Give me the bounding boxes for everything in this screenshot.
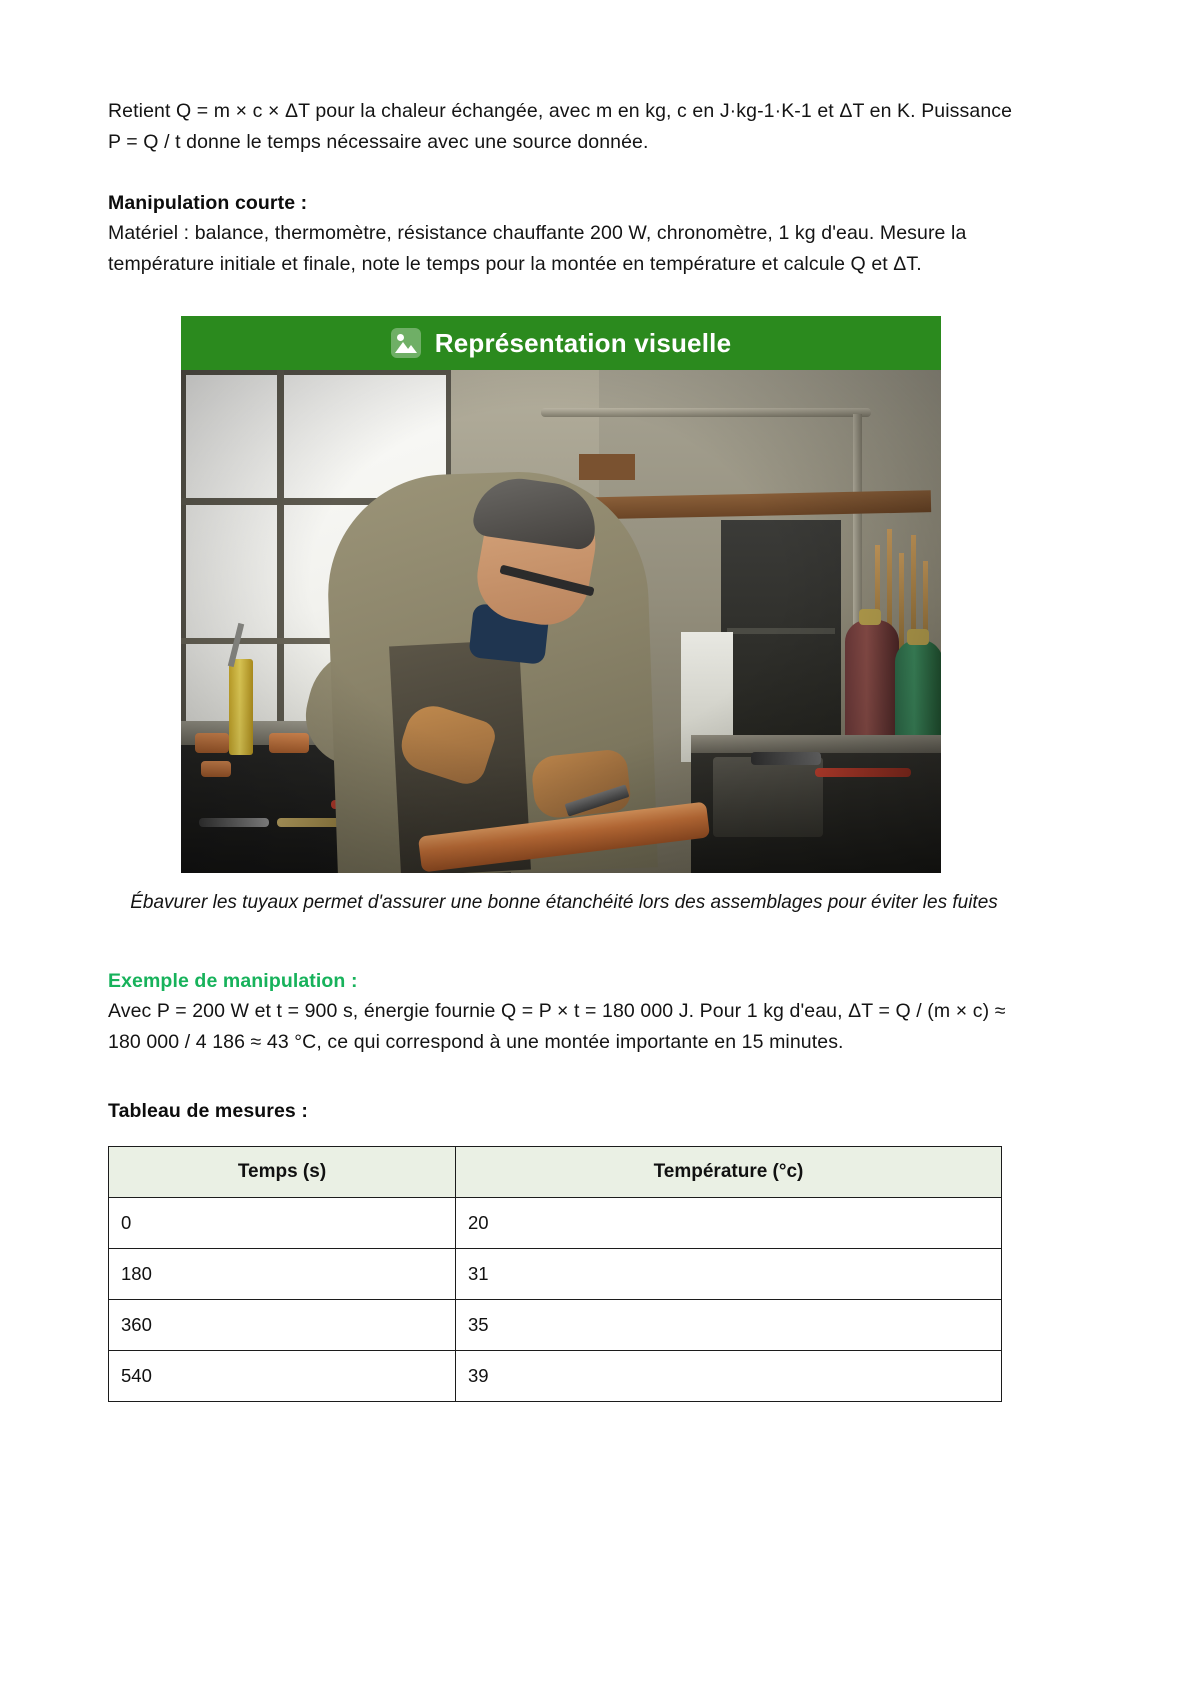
- visual-representation-block: Représentation visuelle: [181, 316, 941, 873]
- image-icon-mountain-small: [405, 345, 417, 353]
- cell-temps: 360: [109, 1300, 456, 1351]
- photo-caption: Ébavurer les tuyaux permet d'assurer une…: [108, 887, 1020, 918]
- document-page: Retient Q = m × c × ΔT pour la chaleur é…: [0, 0, 1200, 1698]
- column-header-temperature: Température (°c): [456, 1147, 1002, 1198]
- document-content: Retient Q = m × c × ΔT pour la chaleur é…: [108, 96, 1020, 1402]
- visual-banner: Représentation visuelle: [181, 316, 941, 370]
- cell-temperature: 31: [456, 1249, 1002, 1300]
- spacer-after-caption: [108, 918, 1020, 966]
- cell-temperature: 20: [456, 1198, 1002, 1249]
- visual-banner-title: Représentation visuelle: [435, 328, 731, 359]
- table-row: 360 35: [109, 1300, 1002, 1351]
- cell-temperature: 39: [456, 1351, 1002, 1402]
- spacer-before-table: [108, 1058, 1020, 1096]
- table-header-row: Temps (s) Température (°c): [109, 1147, 1002, 1198]
- image-icon: [391, 328, 421, 358]
- measurements-table: Temps (s) Température (°c) 0 20 180 31 3…: [108, 1146, 1002, 1402]
- table-row: 540 39: [109, 1351, 1002, 1402]
- example-heading: Exemple de manipulation :: [108, 966, 1020, 996]
- intro-paragraph: Retient Q = m × c × ΔT pour la chaleur é…: [108, 96, 1020, 158]
- table-row: 0 20: [109, 1198, 1002, 1249]
- cell-temps: 180: [109, 1249, 456, 1300]
- workshop-photo: [181, 370, 941, 873]
- photo-vignette: [181, 370, 941, 873]
- cell-temps: 540: [109, 1351, 456, 1402]
- column-header-temps: Temps (s): [109, 1147, 456, 1198]
- cell-temperature: 35: [456, 1300, 1002, 1351]
- table-row: 180 31: [109, 1249, 1002, 1300]
- manipulation-body: Matériel : balance, thermomètre, résista…: [108, 218, 1020, 280]
- table-heading: Tableau de mesures :: [108, 1096, 1020, 1126]
- image-icon-dot: [397, 334, 404, 341]
- manipulation-heading: Manipulation courte :: [108, 188, 1020, 218]
- cell-temps: 0: [109, 1198, 456, 1249]
- example-body: Avec P = 200 W et t = 900 s, énergie fou…: [108, 996, 1020, 1058]
